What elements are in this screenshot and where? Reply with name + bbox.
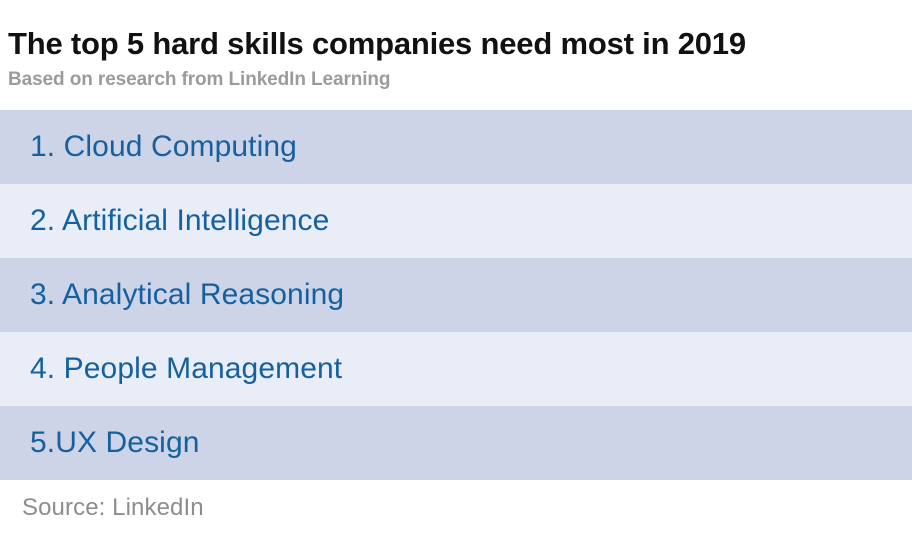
rank-item-label: 4. People Management xyxy=(30,352,342,386)
footer: Source: LinkedIn xyxy=(0,480,912,540)
list-item: 5.UX Design xyxy=(0,406,912,480)
source-attribution: Source: LinkedIn xyxy=(22,494,912,522)
list-item: 2. Artificial Intelligence xyxy=(0,184,912,258)
list-item: 1. Cloud Computing xyxy=(0,110,912,184)
list-item: 4. People Management xyxy=(0,332,912,406)
ranked-skill-list: 1. Cloud Computing 2. Artificial Intelli… xyxy=(0,110,912,480)
rank-item-label: 2. Artificial Intelligence xyxy=(30,204,329,238)
infographic-top-hard-skills: The top 5 hard skills companies need mos… xyxy=(0,0,912,540)
rank-item-label: 5.UX Design xyxy=(30,426,200,460)
header: The top 5 hard skills companies need mos… xyxy=(0,0,912,91)
list-item: 3. Analytical Reasoning xyxy=(0,258,912,332)
rank-item-label: 3. Analytical Reasoning xyxy=(30,278,344,312)
page-subtitle: Based on research from LinkedIn Learning xyxy=(8,62,904,91)
page-title: The top 5 hard skills companies need mos… xyxy=(8,0,904,62)
rank-item-label: 1. Cloud Computing xyxy=(30,130,297,164)
